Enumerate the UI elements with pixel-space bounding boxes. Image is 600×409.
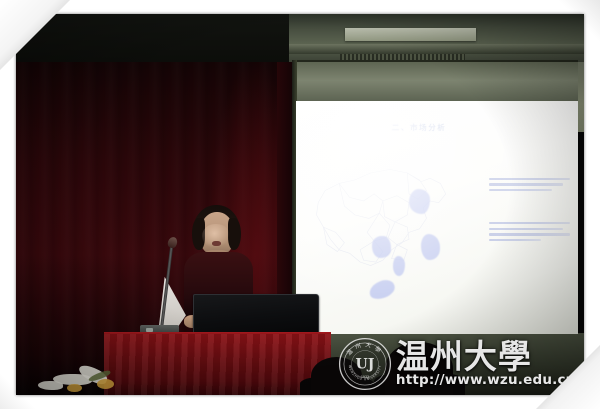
slide-surface: 二、市场分析 bbox=[296, 101, 578, 334]
region-northeast bbox=[409, 189, 430, 214]
region-central bbox=[372, 236, 391, 258]
china-map bbox=[299, 152, 474, 320]
presenter-hair-right bbox=[228, 218, 242, 250]
flower-bud bbox=[67, 384, 82, 392]
slide-text-line bbox=[489, 228, 563, 230]
slide-text-block-1 bbox=[489, 178, 574, 195]
china-map-outline bbox=[299, 152, 474, 283]
presenter bbox=[130, 205, 312, 396]
photo-frame: 二、市场分析 bbox=[0, 0, 600, 409]
slide-text-block-2 bbox=[489, 222, 574, 245]
ceiling-beam bbox=[289, 44, 584, 54]
slide-title: 二、市场分析 bbox=[392, 122, 447, 133]
slide-text-line bbox=[489, 222, 570, 224]
slide-text-line bbox=[489, 178, 570, 180]
projection-screen: 二、市场分析 bbox=[296, 60, 578, 334]
audience-head bbox=[385, 342, 453, 395]
slide-text-line bbox=[489, 183, 563, 185]
photograph: 二、市场分析 bbox=[16, 14, 584, 395]
flower-bud bbox=[97, 379, 114, 389]
slide-text-line bbox=[489, 239, 541, 241]
microphone-head bbox=[166, 236, 178, 250]
slide-text-line bbox=[489, 189, 552, 191]
audience-head bbox=[311, 357, 362, 395]
photo-caption: Female presenter standing at a red-drape… bbox=[0, 0, 1, 1]
slide-text-line bbox=[489, 233, 570, 235]
ceiling-light-panel bbox=[345, 28, 476, 41]
flower-petal bbox=[38, 381, 63, 390]
flower-arrangement bbox=[33, 357, 147, 395]
region-east-coast bbox=[421, 234, 440, 259]
screen-housing bbox=[296, 60, 578, 103]
